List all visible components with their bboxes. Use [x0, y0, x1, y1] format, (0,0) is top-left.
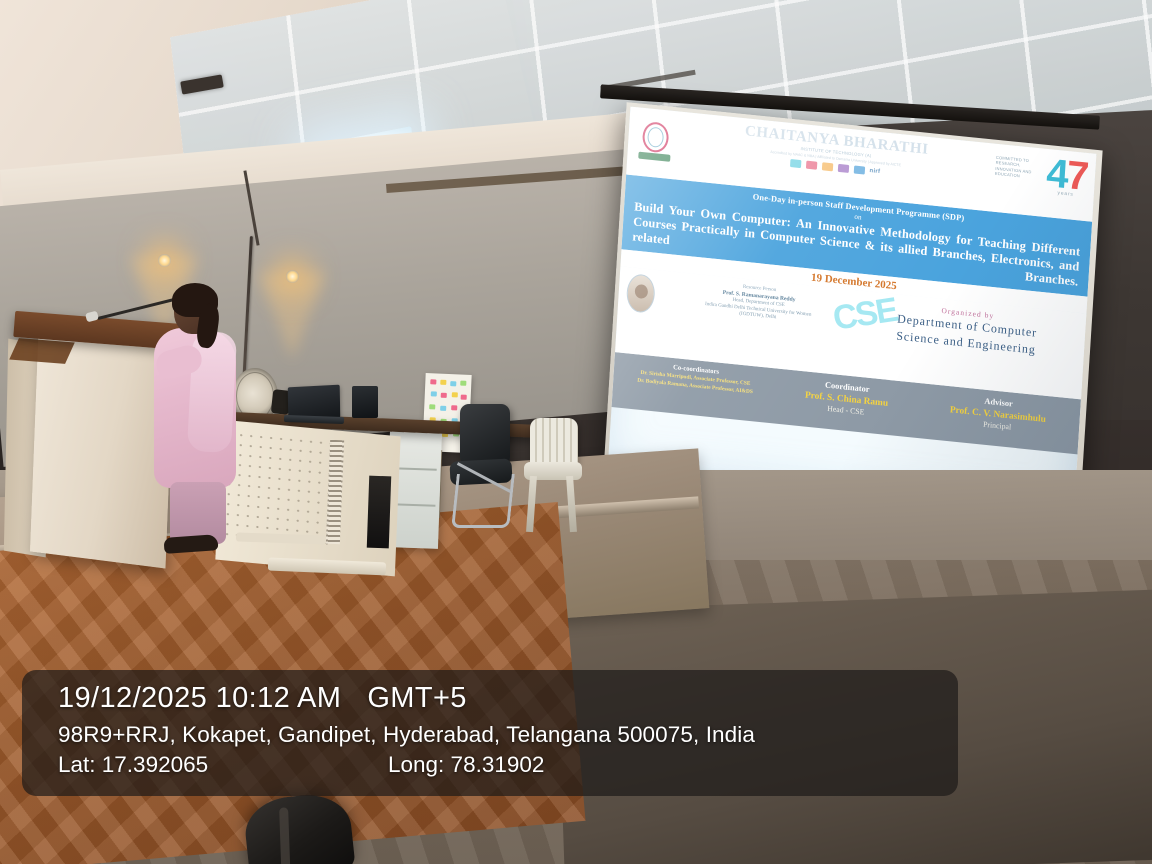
overlay-datetime-row: 19/12/2025 10:12 AMGMT+5	[58, 682, 958, 715]
floor-speaker	[367, 476, 391, 549]
anniversary-number: 47	[1045, 155, 1088, 196]
badge-icon-2	[805, 161, 816, 170]
office-chair	[450, 404, 516, 530]
anniversary-badge: COMMITTED TO RESEARCH, INNOVATION AND ED…	[994, 149, 1088, 199]
badge-icon-5	[853, 166, 864, 175]
wall-light-glow-2	[258, 272, 326, 360]
badge-icon-4	[837, 164, 848, 173]
speaker-person	[150, 286, 246, 554]
badge-icon-1	[790, 159, 801, 168]
gps-map-camera-overlay: 19/12/2025 10:12 AMGMT+5 98R9+RRJ, Kokap…	[22, 670, 958, 796]
overlay-longitude: Long: 78.31902	[388, 752, 544, 778]
overlay-timezone: GMT+5	[367, 682, 467, 714]
badge-icon-3	[821, 162, 832, 171]
overlay-coordinates-row: Lat: 17.392065 Long: 78.31902	[58, 752, 958, 778]
desktop-monitor	[352, 386, 378, 418]
coordinator-column: Coordinator Prof. S. China Ramu Head - C…	[772, 375, 922, 424]
podium-bracket	[9, 338, 75, 364]
overlay-address: 98R9+RRJ, Kokapet, Gandipet, Hyderabad, …	[58, 722, 958, 748]
overlay-latitude: Lat: 17.392065	[58, 752, 388, 778]
overlay-datetime: 19/12/2025 10:12 AM	[58, 682, 341, 714]
anniversary-tagline: COMMITTED TO RESEARCH, INNOVATION AND ED…	[995, 150, 1045, 181]
photograph-seminar-hall: CHAITANYA BHARATHI INSTITUTE OF TECHNOLO…	[0, 0, 1152, 864]
wall-light-2	[286, 270, 299, 283]
advisor-column: Advisor Prof. C. V. Narasimhulu Principa…	[923, 390, 1073, 439]
institution-logo-icon	[635, 118, 678, 168]
nirf-logo: nirf	[869, 168, 880, 175]
resource-person-photo	[626, 273, 656, 314]
wall-light-1	[158, 254, 171, 267]
organized-by-block: Organized by Department of Computer Scie…	[854, 294, 1078, 394]
plastic-chair	[524, 418, 584, 534]
co-coordinators-column: Co-coordinators Dr. Sirisha Marripudi, A…	[620, 359, 770, 408]
